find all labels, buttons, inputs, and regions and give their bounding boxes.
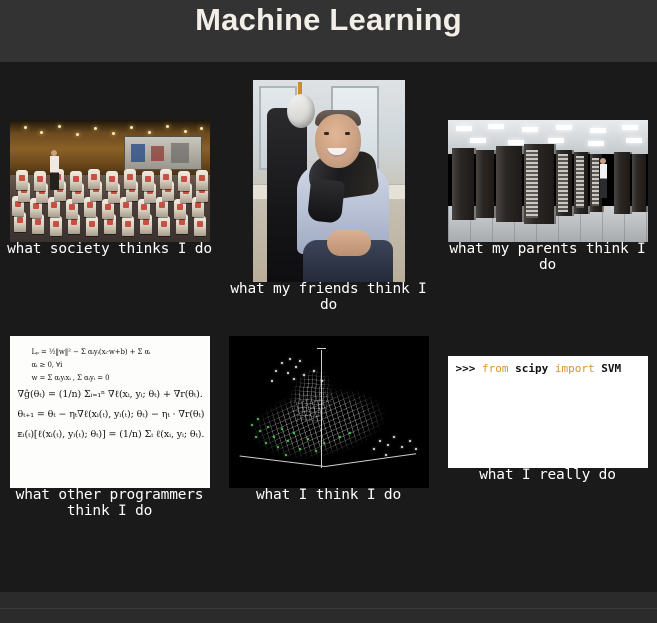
man-with-robotic-arm-photo — [253, 80, 405, 282]
meme-row-bottom: Lₚ = ½‖w‖² − Σ αᵢyᵢ(xᵢ·w+b) + Σ αᵢ αᵢ ≥ … — [0, 330, 657, 592]
meme-panel-society: what society thinks I do — [0, 62, 219, 330]
meme-panel-parents: what my parents think I do — [438, 62, 657, 330]
meme-row-top: what society thinks I do — [0, 62, 657, 330]
meme-panel-friends: what my friends think I do — [219, 62, 438, 330]
meme-panel-caption: what other programmers think I do — [3, 488, 216, 519]
presenter-figure — [50, 156, 59, 190]
hyperplane-peak-mesh — [277, 350, 343, 422]
page-title: Machine Learning — [0, 2, 657, 38]
symbol-name-svm: SVM — [595, 362, 622, 375]
page-footer — [0, 592, 657, 623]
keyword-import: import — [555, 362, 595, 375]
technician-figure — [600, 164, 607, 198]
python-console-screenshot: >>> from scipy import SVM — [448, 356, 648, 468]
equation-line-5: θₜ₊₁ = θₜ − ηₜ∇ℓ(xᵢ(ₜ), yᵢ(ₜ); θₜ) − ηₜ … — [18, 405, 202, 425]
server-room-supercomputer-photo — [448, 120, 648, 242]
python-code-line: >>> from scipy import SVM — [456, 362, 622, 376]
equation-line-1: Lₚ = ½‖w‖² − Σ αᵢyᵢ(xᵢ·w+b) + Σ αᵢ — [18, 346, 202, 359]
equation-line-2: αᵢ ≥ 0, ∀i — [18, 359, 202, 372]
meme-panel-i-think: what I think I do — [219, 330, 438, 592]
meme-panel-i-really: >>> from scipy import SVM what I really … — [438, 330, 657, 592]
module-name-scipy: scipy — [509, 362, 555, 375]
svm-math-equations-image: Lₚ = ½‖w‖² − Σ αᵢyᵢ(xᵢ·w+b) + Σ αᵢ αᵢ ≥ … — [10, 336, 210, 488]
meme-panel-other-programmers: Lₚ = ½‖w‖² − Σ αᵢyᵢ(xᵢ·w+b) + Σ αᵢ αᵢ ≥ … — [0, 330, 219, 592]
meme-panel-caption: what my parents think I do — [441, 242, 654, 273]
ceiling-lights-icon — [10, 122, 210, 142]
python-prompt: >>> — [456, 362, 483, 375]
equation-line-3: w = Σ αᵢyᵢxᵢ , Σ αᵢyᵢ = 0 — [18, 372, 202, 385]
meme-grid: what society thinks I do — [0, 62, 657, 592]
meme-panel-caption: what my friends think I do — [222, 282, 435, 313]
3d-svm-hyperplane-scatter-plot — [229, 336, 429, 488]
equation-line-4: ∇ĝ(θₜ) = (1/n) Σᵢ₌₁ⁿ ∇ℓ(xᵢ, yᵢ; θₜ) + ∇r… — [18, 385, 202, 405]
footer-divider — [0, 608, 657, 609]
page-header: Machine Learning — [0, 0, 657, 62]
meme-panel-caption: what I think I do — [222, 488, 435, 504]
meme-panel-caption: what society thinks I do — [3, 242, 216, 258]
meme-panel-caption: what I really do — [441, 468, 654, 484]
equation-line-6: ᴇᵢ(ₜ)[ℓ(xᵢ(ₜ), yᵢ(ₜ); θₜ)] = (1/n) Σᵢ ℓ(… — [18, 425, 202, 445]
keyword-from: from — [482, 362, 509, 375]
auditorium-of-humanoid-robots-photo — [10, 120, 210, 242]
